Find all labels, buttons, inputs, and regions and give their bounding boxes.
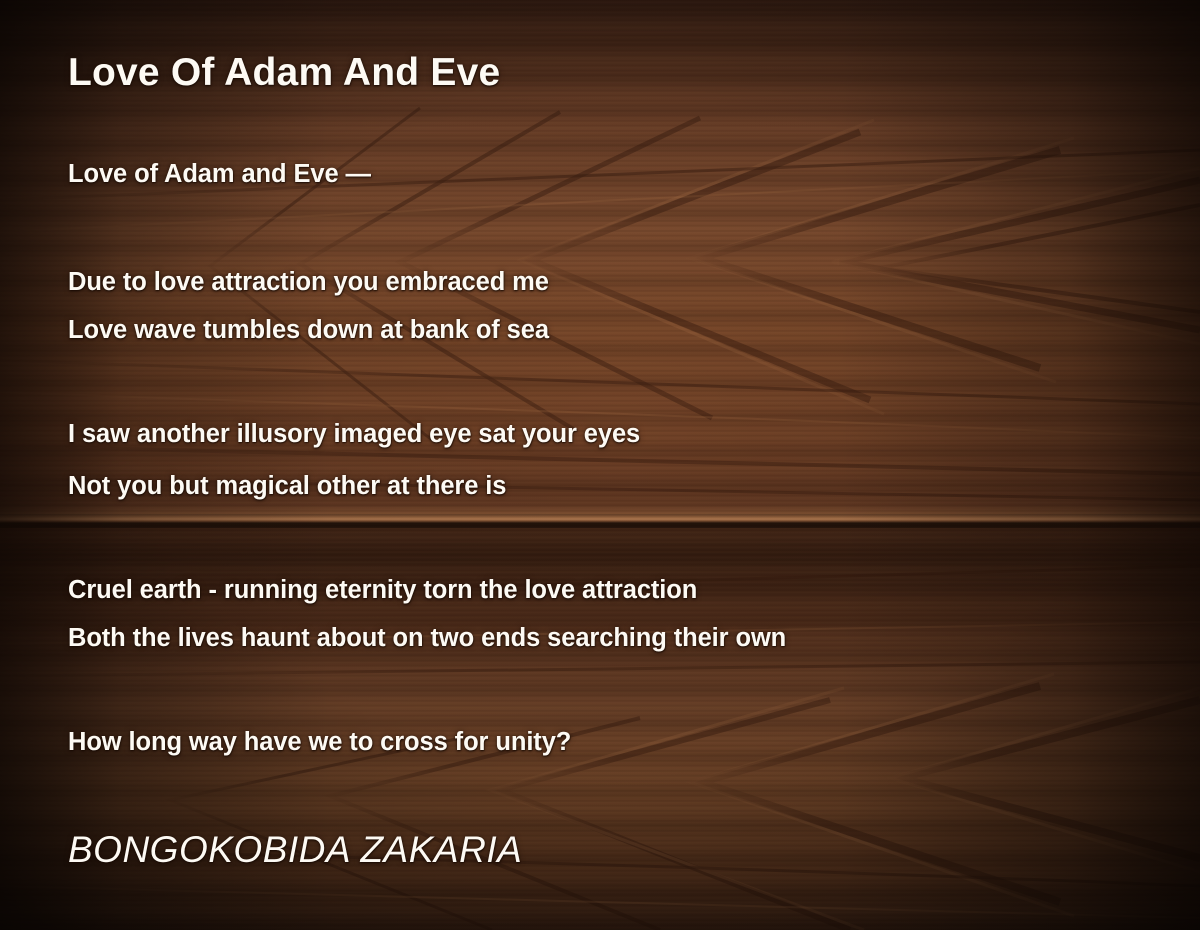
poem-line-s2-l1: I saw another illusory imaged eye sat yo…	[68, 420, 640, 448]
poem-title: Love Of Adam And Eve	[68, 52, 500, 95]
poem-subtitle: Love of Adam and Eve —	[68, 160, 371, 188]
poem-line-s2-l2: Not you but magical other at there is	[68, 472, 506, 500]
poem-line-s3-l1: Cruel earth - running eternity torn the …	[68, 576, 697, 604]
poem-line-s1-l1: Due to love attraction you embraced me	[68, 268, 549, 296]
poem-poster: Love Of Adam And Eve Love of Adam and Ev…	[0, 0, 1200, 930]
poem-line-s4-l1: How long way have we to cross for unity?	[68, 728, 571, 756]
poem-line-s1-l2: Love wave tumbles down at bank of sea	[68, 316, 549, 344]
poem-content: Love Of Adam And Eve Love of Adam and Ev…	[0, 0, 1200, 930]
poem-author-signature: BONGOKOBIDA ZAKARIA	[68, 830, 522, 871]
poem-line-s3-l2: Both the lives haunt about on two ends s…	[68, 624, 786, 652]
